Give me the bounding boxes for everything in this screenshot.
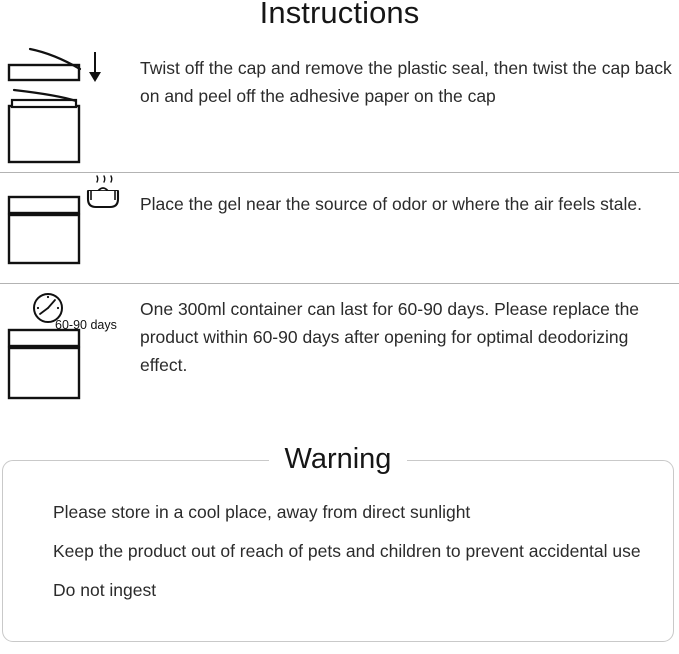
trash-bin-odor-icon	[88, 176, 118, 207]
jar-with-timer-icon: 60-90 days	[0, 284, 140, 404]
instruction-step-3: 60-90 days One 300ml container can last …	[0, 284, 679, 414]
instruction-step-1-text: Twist off the cap and remove the plastic…	[140, 42, 679, 110]
warning-item: Keep the product out of reach of pets an…	[53, 538, 645, 564]
jar-with-odor-source-icon	[0, 173, 140, 281]
warning-items-list: Please store in a cool place, away from …	[3, 461, 673, 603]
instruction-step-1: Twist off the cap and remove the plastic…	[0, 42, 679, 172]
warning-panel: Warning Please store in a cool place, aw…	[2, 460, 674, 642]
arrow-down-icon	[89, 52, 101, 82]
warning-item: Do not ingest	[53, 577, 645, 603]
instruction-steps-list: Twist off the cap and remove the plastic…	[0, 42, 679, 414]
days-duration-label: 60-90 days	[55, 318, 117, 332]
warning-item: Please store in a cool place, away from …	[53, 499, 645, 525]
instruction-step-3-text: One 300ml container can last for 60-90 d…	[140, 284, 679, 379]
instruction-step-2-text: Place the gel near the source of odor or…	[140, 173, 679, 218]
jar-lid-removal-icon	[0, 42, 140, 170]
page-title: Instructions	[0, 0, 679, 28]
instruction-step-2: Place the gel near the source of odor or…	[0, 173, 679, 283]
